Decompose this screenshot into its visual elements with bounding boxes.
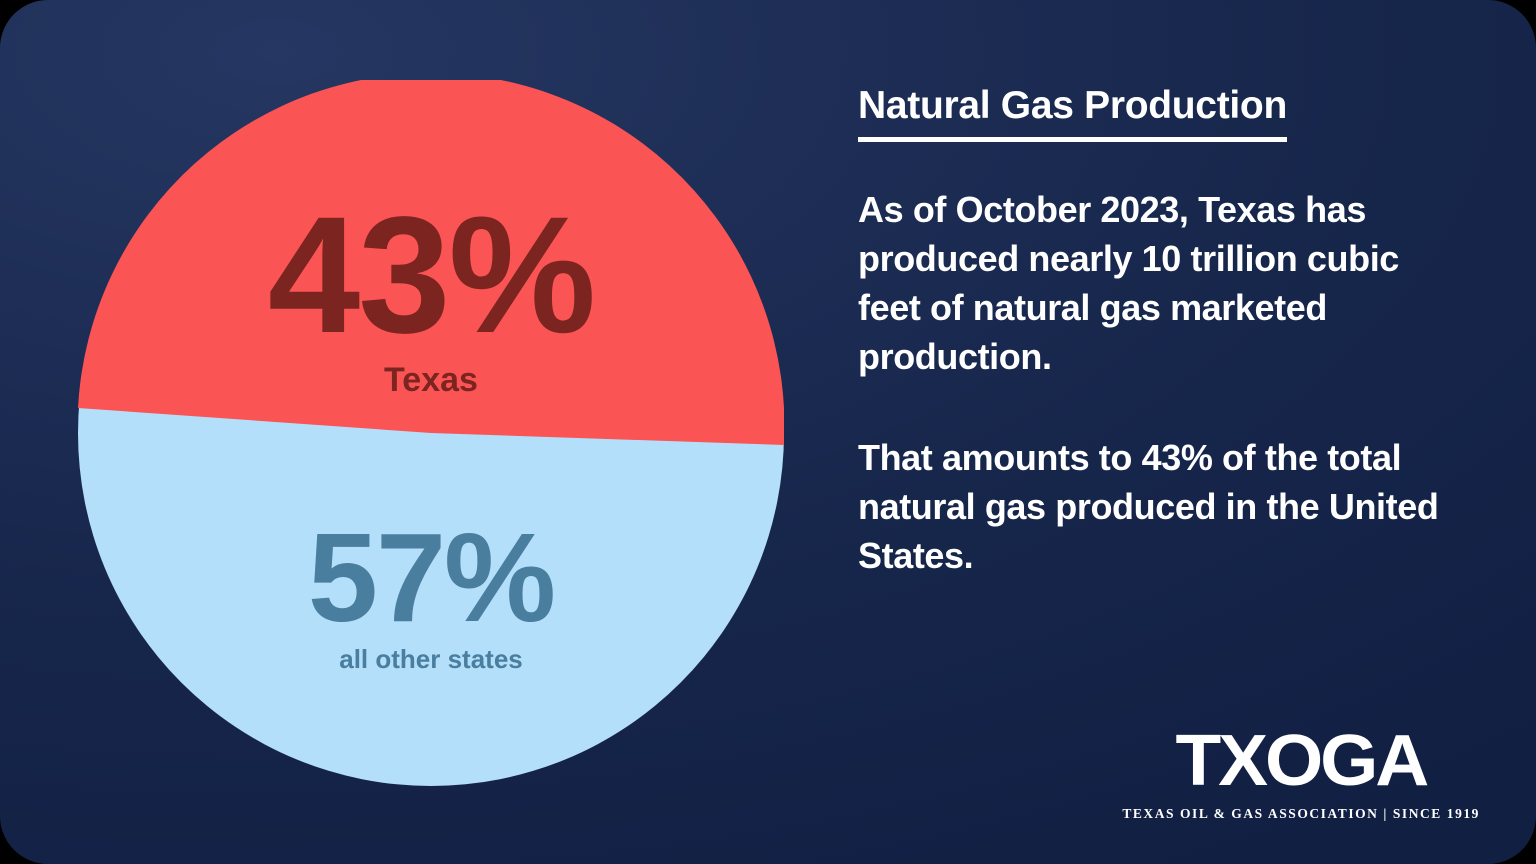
txoga-logo[interactable]: TXOGA TEXAS OIL & GAS ASSOCIATION | SINC… — [1122, 725, 1480, 822]
pie-label-all-other-states: 57% all other states — [78, 520, 784, 675]
pie-chart: 43% Texas 57% all other states — [78, 80, 784, 786]
pie-label-texas: 43% Texas — [78, 200, 784, 400]
logo-wordmark: TXOGA — [1115, 725, 1487, 797]
panel-paragraph-2: That amounts to 43% of the total natural… — [858, 434, 1450, 581]
panel-paragraph-1: As of October 2023, Texas has produced n… — [858, 186, 1450, 382]
all-other-states-percentage-value: 57% — [78, 520, 784, 636]
infographic-card: 43% Texas 57% all other states Natural G… — [0, 0, 1536, 864]
panel-headline: Natural Gas Production — [858, 84, 1287, 142]
texas-percentage-value: 43% — [78, 200, 784, 353]
logo-tagline: TEXAS OIL & GAS ASSOCIATION | SINCE 1919 — [1122, 806, 1480, 822]
texas-category-label: Texas — [78, 361, 784, 400]
all-other-states-category-label: all other states — [78, 644, 784, 675]
text-panel: Natural Gas Production As of October 202… — [858, 84, 1458, 581]
